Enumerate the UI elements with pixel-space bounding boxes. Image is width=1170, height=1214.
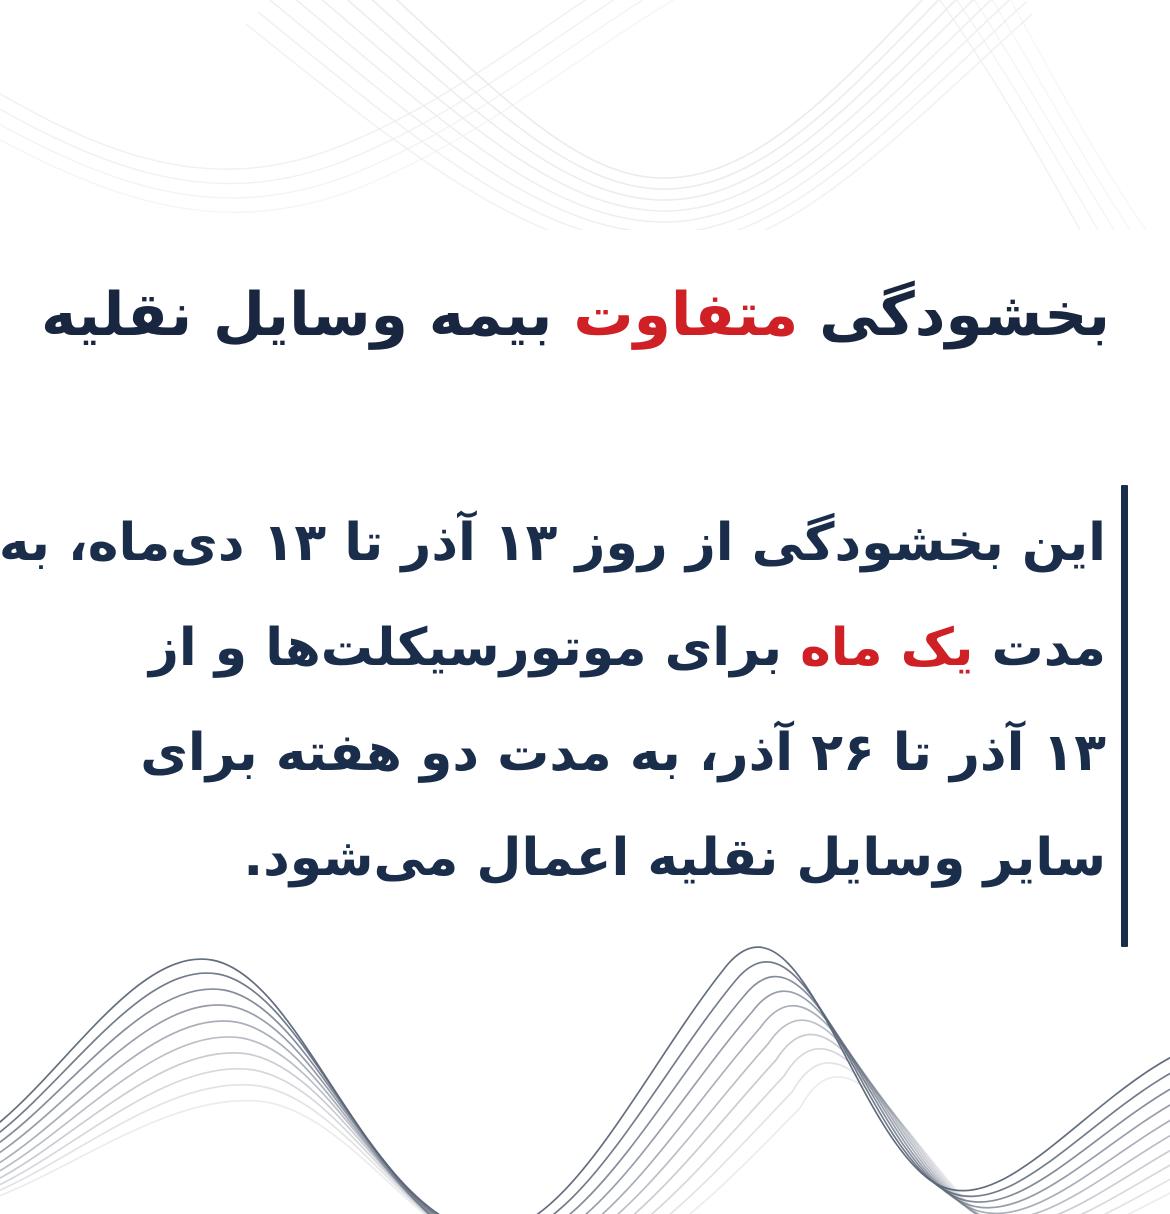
headline-segment-3: بیمه وسایل نقلیه	[41, 280, 573, 350]
body-line-4: سایر وسایل نقلیه اعمال می‌شود.	[40, 806, 1106, 911]
body-line-2-part-2: برای موتورسیکلت‌ها و از	[149, 618, 800, 678]
body-accent-duration: یک ماه	[800, 618, 973, 678]
poster-canvas: بخشودگی متفاوت بیمه وسایل نقلیه این بخشو…	[0, 0, 1170, 1214]
body-line-1: این بخشودگی از روز ۱۳ آذر تا ۱۳ دی‌ماه، …	[40, 491, 1106, 596]
headline-segment-1: بخشودگی	[798, 280, 1110, 350]
page-title: بخشودگی متفاوت بیمه وسایل نقلیه	[60, 278, 1110, 353]
body-line-2: مدت یک ماه برای موتورسیکلت‌ها و از	[40, 596, 1106, 701]
top-wave-decoration	[0, 0, 1170, 230]
body-paragraph: این بخشودگی از روز ۱۳ آذر تا ۱۳ دی‌ماه، …	[40, 491, 1106, 911]
bottom-wave-decoration	[0, 944, 1170, 1214]
vertical-navy-rule	[1121, 485, 1128, 947]
body-line-3: ۱۳ آذر تا ۲۶ آذر، به مدت دو هفته برای	[40, 701, 1106, 806]
headline-accent-word: متفاوت	[573, 280, 798, 350]
body-block: این بخشودگی از روز ۱۳ آذر تا ۱۳ دی‌ماه، …	[40, 485, 1140, 947]
body-line-2-part-1: مدت	[973, 618, 1106, 678]
